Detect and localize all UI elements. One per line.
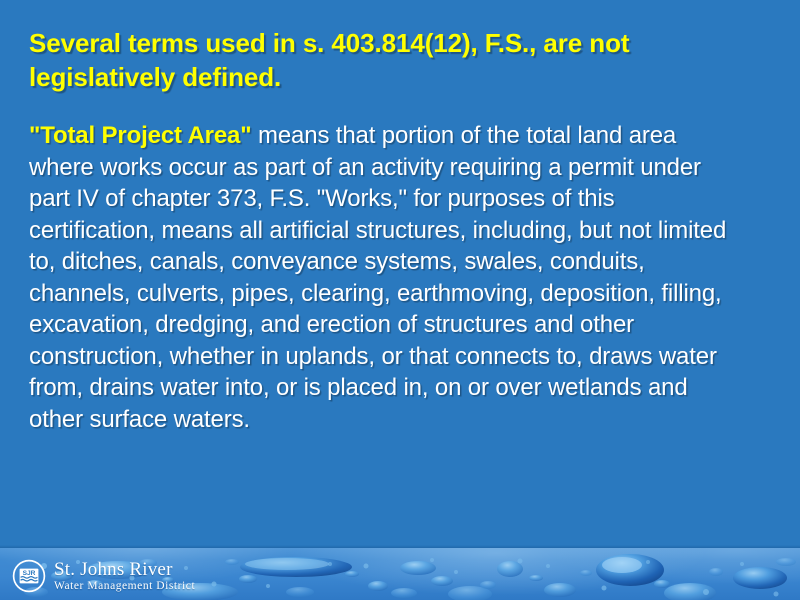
slide-title: Several terms used in s. 403.814(12), F.… xyxy=(29,26,759,94)
body-definition-text: means that portion of the total land are… xyxy=(29,122,726,433)
slide-body-text: "Total Project Area" means that portion … xyxy=(29,120,745,435)
organization-logo: SJR St. Johns River Water Management Dis… xyxy=(12,559,195,593)
sjrwmd-emblem-icon: SJR xyxy=(12,559,46,593)
svg-text:SJR: SJR xyxy=(23,570,36,577)
logo-organization-name: St. Johns River xyxy=(54,560,195,579)
highlighted-term: "Total Project Area" xyxy=(29,122,251,149)
slide-canvas: Several terms used in s. 403.814(12), F.… xyxy=(0,0,800,600)
logo-subtitle: Water Management District xyxy=(54,581,195,593)
logo-wordmark: St. Johns River Water Management Distric… xyxy=(54,560,195,593)
